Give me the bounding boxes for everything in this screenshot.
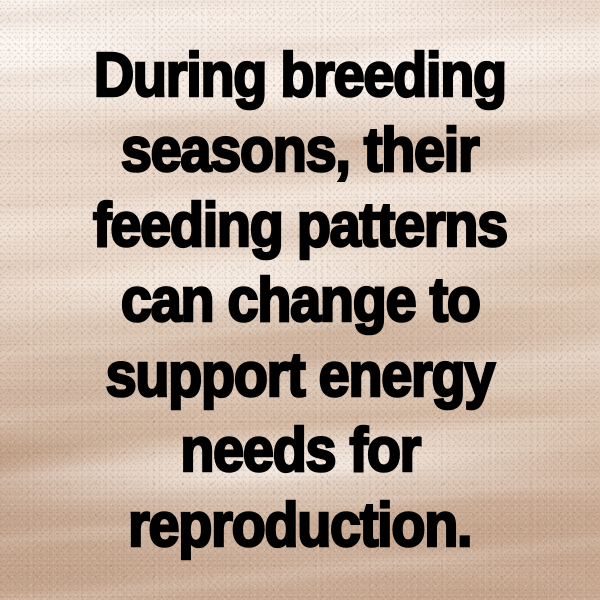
quote-line-4: can change to	[121, 263, 480, 338]
quote-card: During breeding seasons, their feeding p…	[0, 0, 600, 600]
quote-line-3: feeding patterns	[93, 188, 507, 263]
quote-line-5: support energy	[106, 338, 495, 413]
quote-line-7: reproduction.	[128, 488, 471, 563]
quote-line-6: needs for	[180, 413, 420, 488]
quote-line-2: seasons, their	[121, 113, 479, 188]
quote-text-block: During breeding seasons, their feeding p…	[0, 0, 600, 600]
quote-line-1: During breeding	[94, 38, 506, 113]
